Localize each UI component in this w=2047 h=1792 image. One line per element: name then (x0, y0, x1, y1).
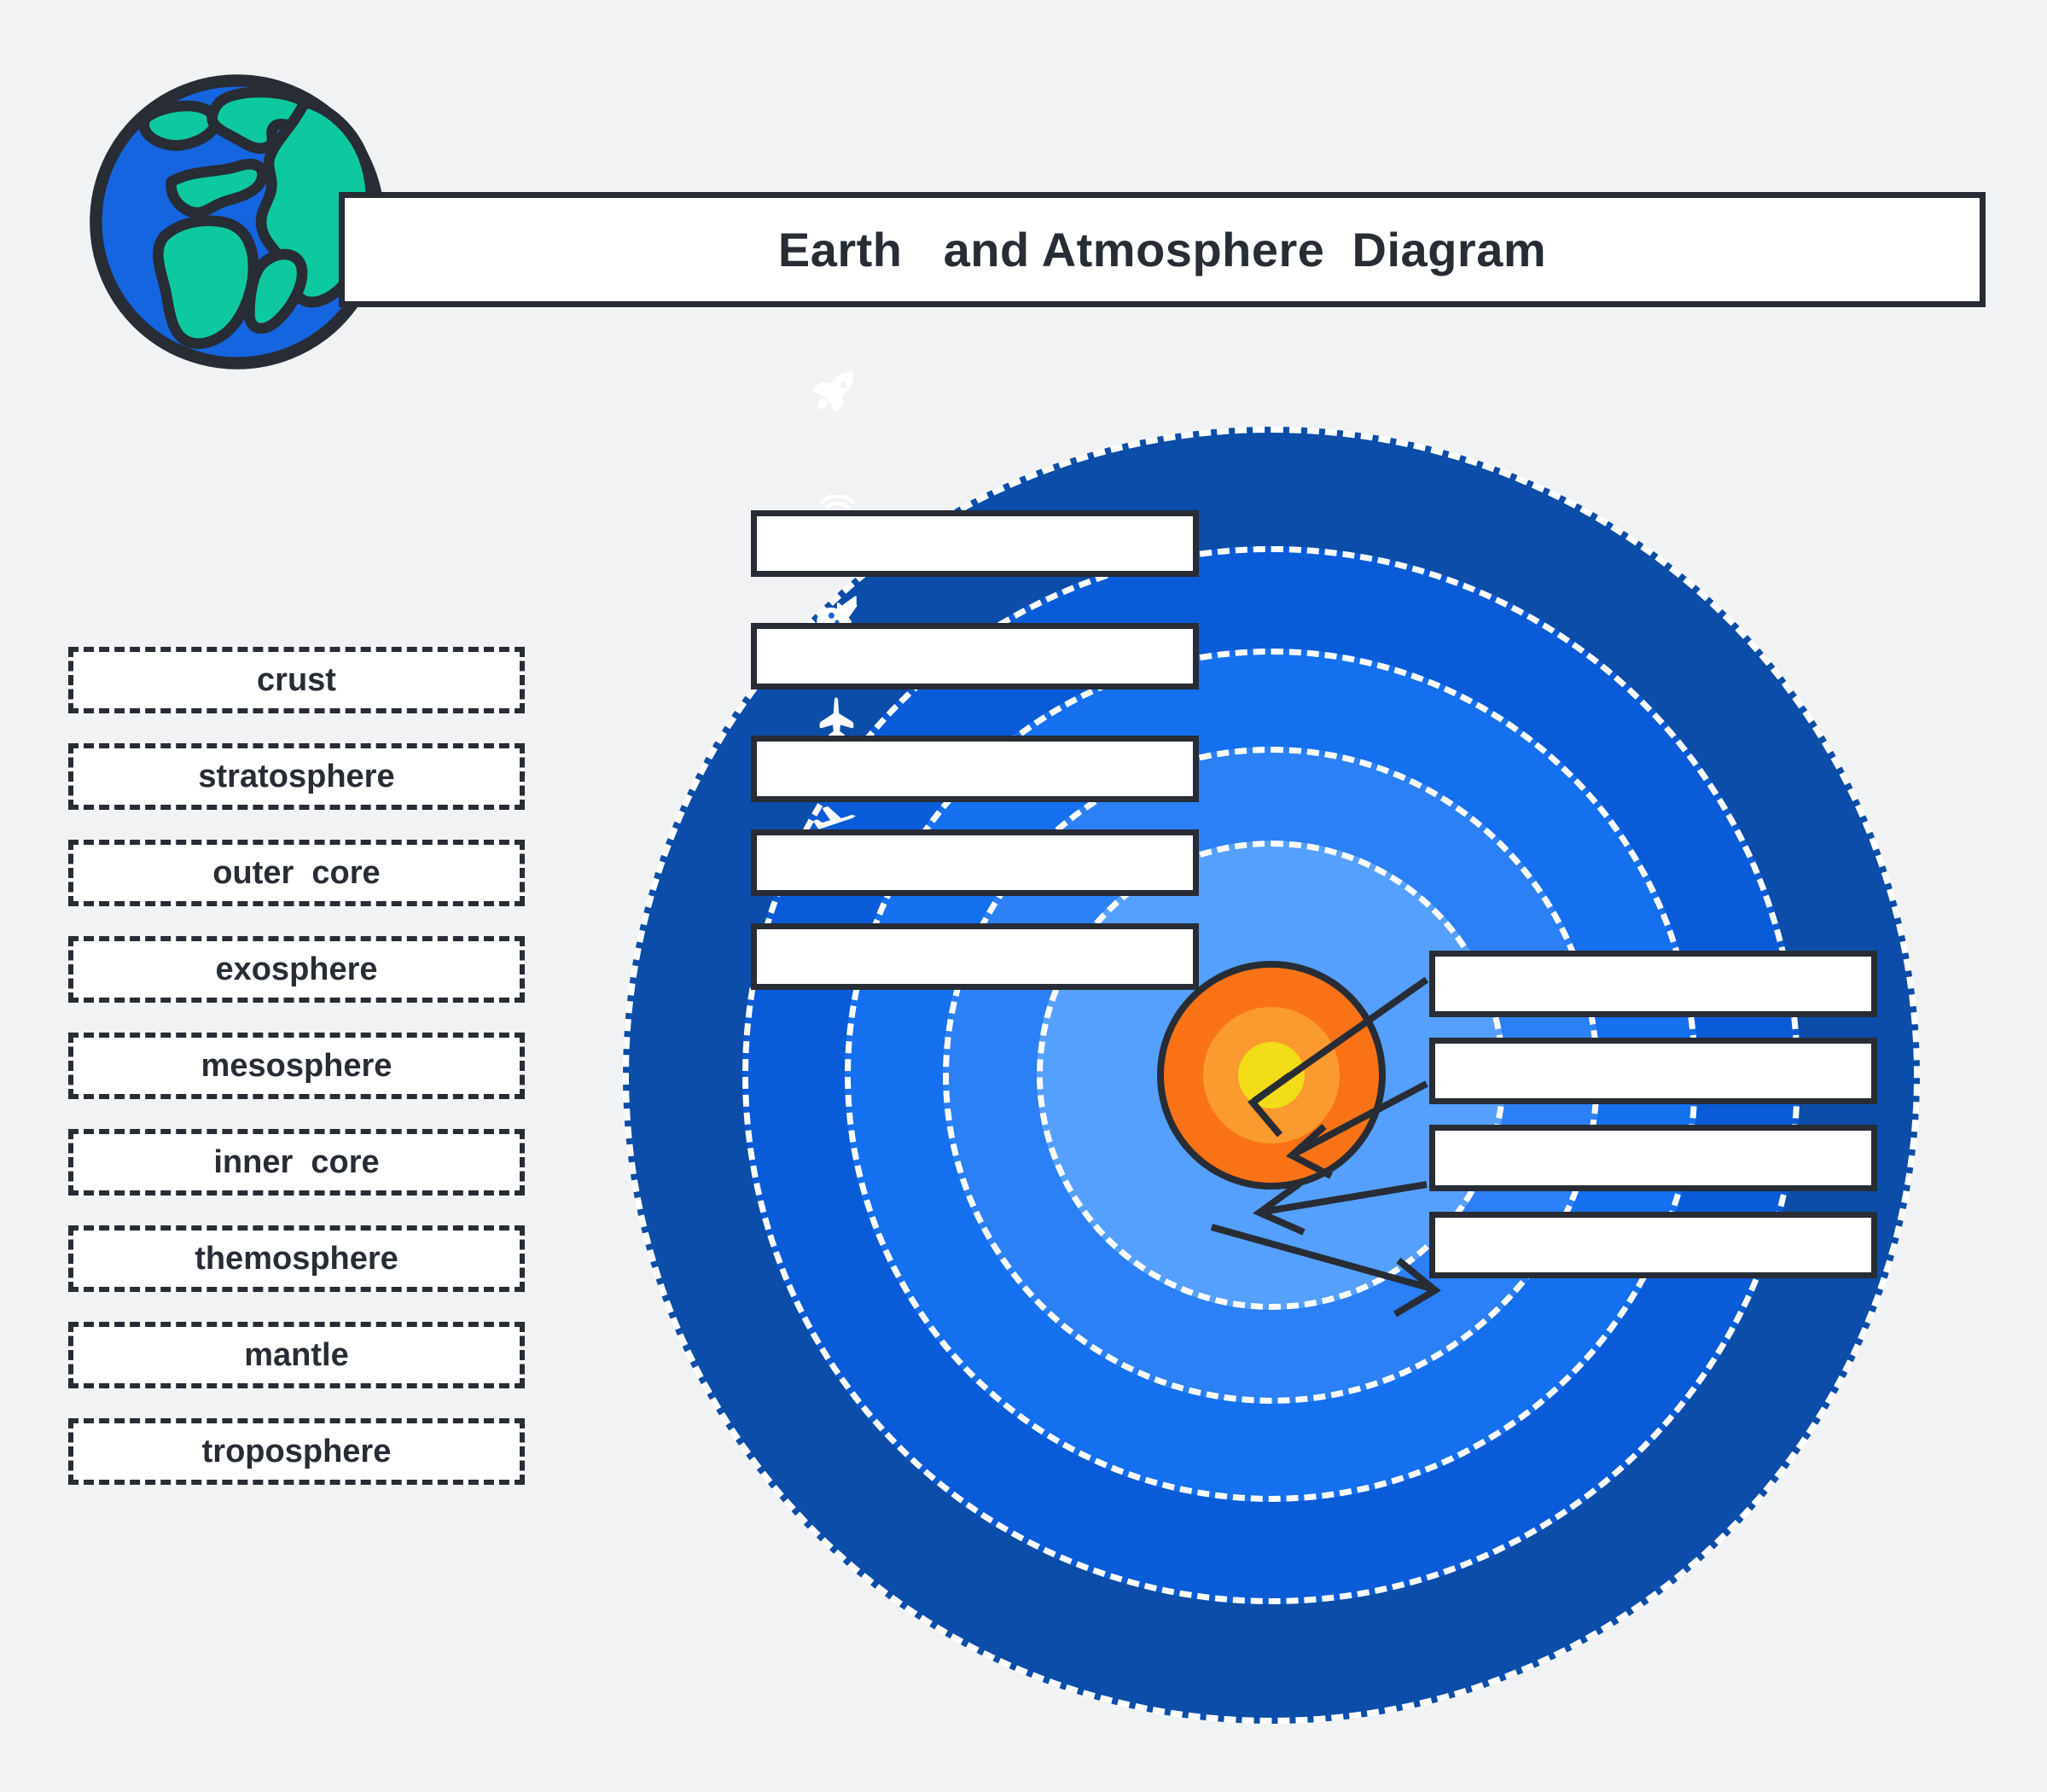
rocket-icon (809, 367, 858, 416)
word-bank-item-label: exosphere (215, 951, 377, 988)
answer-box-left-2[interactable] (751, 623, 1199, 689)
word-bank-item-label: crust (257, 662, 336, 699)
word-bank-item-label: inner core (213, 1144, 379, 1181)
answer-box-right-3[interactable] (1429, 1125, 1877, 1191)
answer-box-right-2[interactable] (1429, 1038, 1877, 1104)
word-bank: crust stratosphere outer core exosphere … (68, 647, 525, 1515)
answer-box-right-4[interactable] (1429, 1212, 1877, 1278)
answer-box-left-3[interactable] (751, 736, 1199, 802)
word-bank-item[interactable]: stratosphere (68, 743, 525, 810)
page-title: Earth and Atmosphere Diagram (778, 222, 1546, 277)
core-layer-inner-core (1238, 1042, 1305, 1108)
answer-box-right-1[interactable] (1429, 951, 1877, 1017)
word-bank-item[interactable]: themosphere (68, 1225, 525, 1292)
answer-box-left-1[interactable] (751, 510, 1199, 577)
word-bank-item[interactable]: mesosphere (68, 1033, 525, 1099)
word-bank-item[interactable]: inner core (68, 1129, 525, 1196)
word-bank-item[interactable]: outer core (68, 840, 525, 906)
answer-box-left-4[interactable] (751, 829, 1199, 896)
word-bank-item[interactable]: exosphere (68, 936, 525, 1003)
word-bank-item[interactable]: troposphere (68, 1418, 525, 1485)
word-bank-item[interactable]: crust (68, 647, 525, 713)
diagram-title-bar: Earth and Atmosphere Diagram (339, 192, 1986, 307)
word-bank-item-label: mantle (244, 1337, 348, 1374)
word-bank-item-label: troposphere (202, 1434, 392, 1470)
word-bank-item-label: mesosphere (201, 1048, 393, 1085)
word-bank-item[interactable]: mantle (68, 1322, 525, 1388)
word-bank-item-label: outer core (212, 855, 380, 892)
word-bank-item-label: stratosphere (198, 759, 394, 795)
word-bank-item-label: themosphere (195, 1241, 398, 1277)
answer-box-left-5[interactable] (751, 923, 1199, 990)
